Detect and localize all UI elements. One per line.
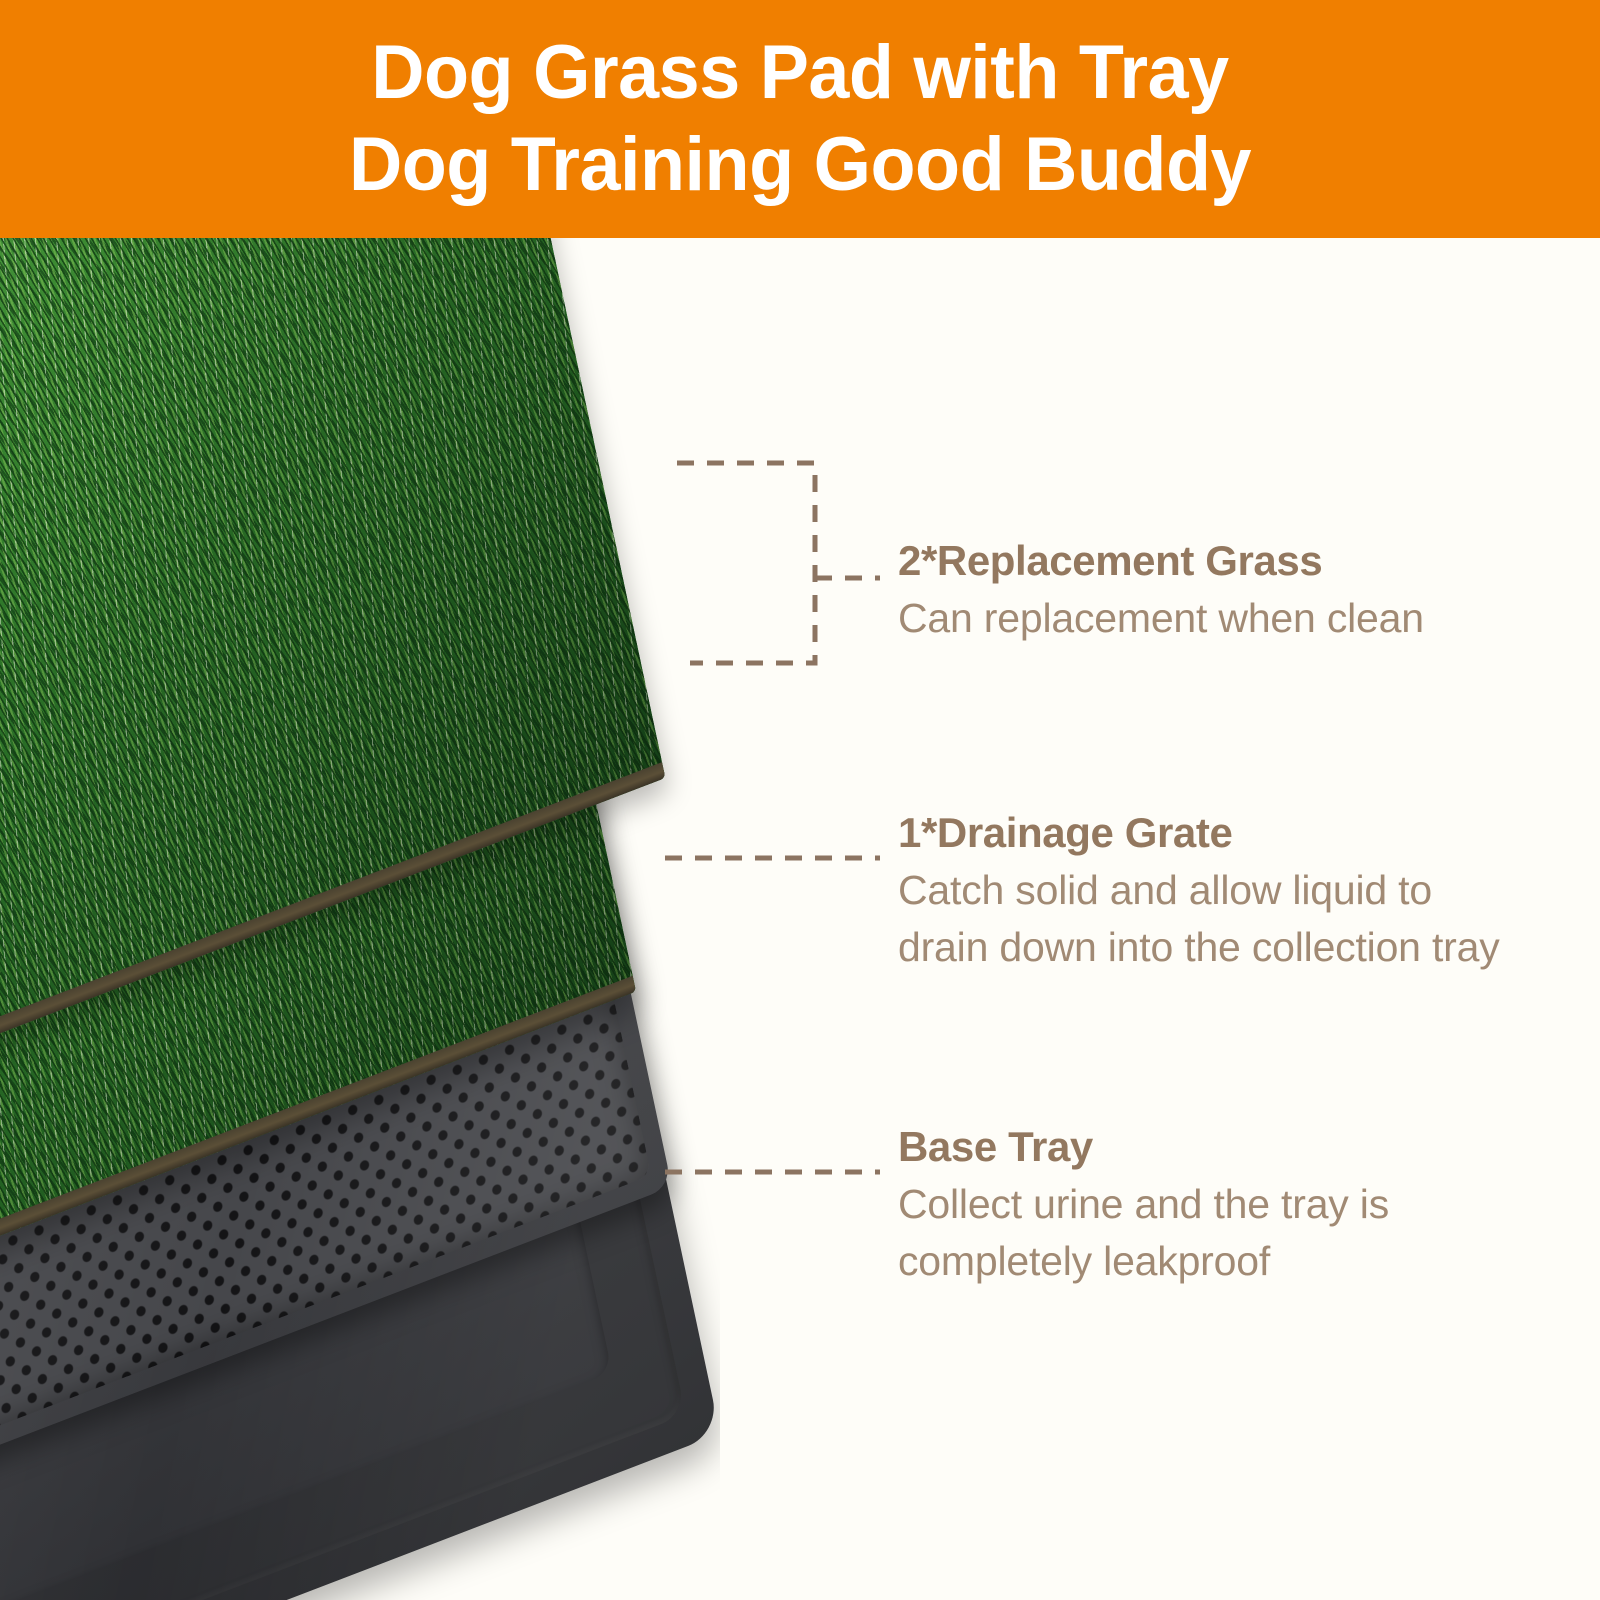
callout-tray-title: Base Tray [898, 1122, 1528, 1172]
callout-tray-body: Collect urine and the tray is completely… [898, 1176, 1528, 1290]
callout-grass-title: 2*Replacement Grass [898, 536, 1528, 586]
header-title-line-2: Dog Training Good Buddy [349, 119, 1251, 211]
header-title-line-1: Dog Grass Pad with Tray [371, 27, 1228, 119]
callout-replacement-grass: 2*Replacement Grass Can replacement when… [898, 536, 1528, 647]
callout-grate-title: 1*Drainage Grate [898, 808, 1528, 858]
callout-grass-body: Can replacement when clean [898, 590, 1528, 647]
callout-base-tray: Base Tray Collect urine and the tray is … [898, 1122, 1528, 1290]
header-banner: Dog Grass Pad with Tray Dog Training Goo… [0, 0, 1600, 238]
product-illustration [0, 238, 720, 1600]
callout-grate-body: Catch solid and allow liquid to drain do… [898, 862, 1528, 976]
infographic-page: Dog Grass Pad with Tray Dog Training Goo… [0, 0, 1600, 1600]
callout-drainage-grate: 1*Drainage Grate Catch solid and allow l… [898, 808, 1528, 976]
